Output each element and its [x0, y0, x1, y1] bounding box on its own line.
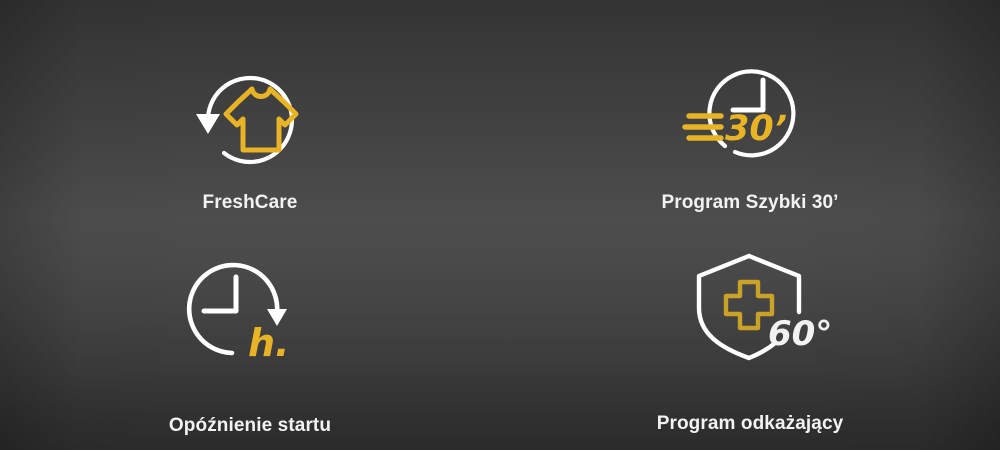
- feature-item-sanitizing-program: 60° Program odkażający: [500, 225, 1000, 450]
- feature-label-quick-program: Program Szybki 30’: [661, 192, 838, 214]
- clock-speed-lines-icon: 30’: [675, 58, 825, 170]
- sanitizing-glyph: 60°: [768, 314, 832, 354]
- feature-item-delay-start: h. Opóźnienie startu: [0, 225, 500, 450]
- feature-label-sanitizing-program: Program odkażający: [657, 413, 844, 435]
- tshirt-refresh-icon: [175, 58, 325, 170]
- feature-panel: FreshCare 30’: [0, 0, 1000, 450]
- feature-grid: FreshCare 30’: [0, 0, 1000, 450]
- delay-start-glyph: h.: [248, 321, 290, 365]
- shield-cross-icon: 60°: [675, 247, 825, 365]
- clock-delay-arrow-icon: h.: [175, 253, 325, 371]
- feature-label-delay-start: Opóźnienie startu: [169, 415, 331, 437]
- quick-program-glyph: 30’: [725, 109, 787, 149]
- feature-item-quick-program: 30’ Program Szybki 30’: [500, 0, 1000, 225]
- feature-item-freshcare: FreshCare: [0, 0, 500, 225]
- feature-label-freshcare: FreshCare: [203, 192, 298, 214]
